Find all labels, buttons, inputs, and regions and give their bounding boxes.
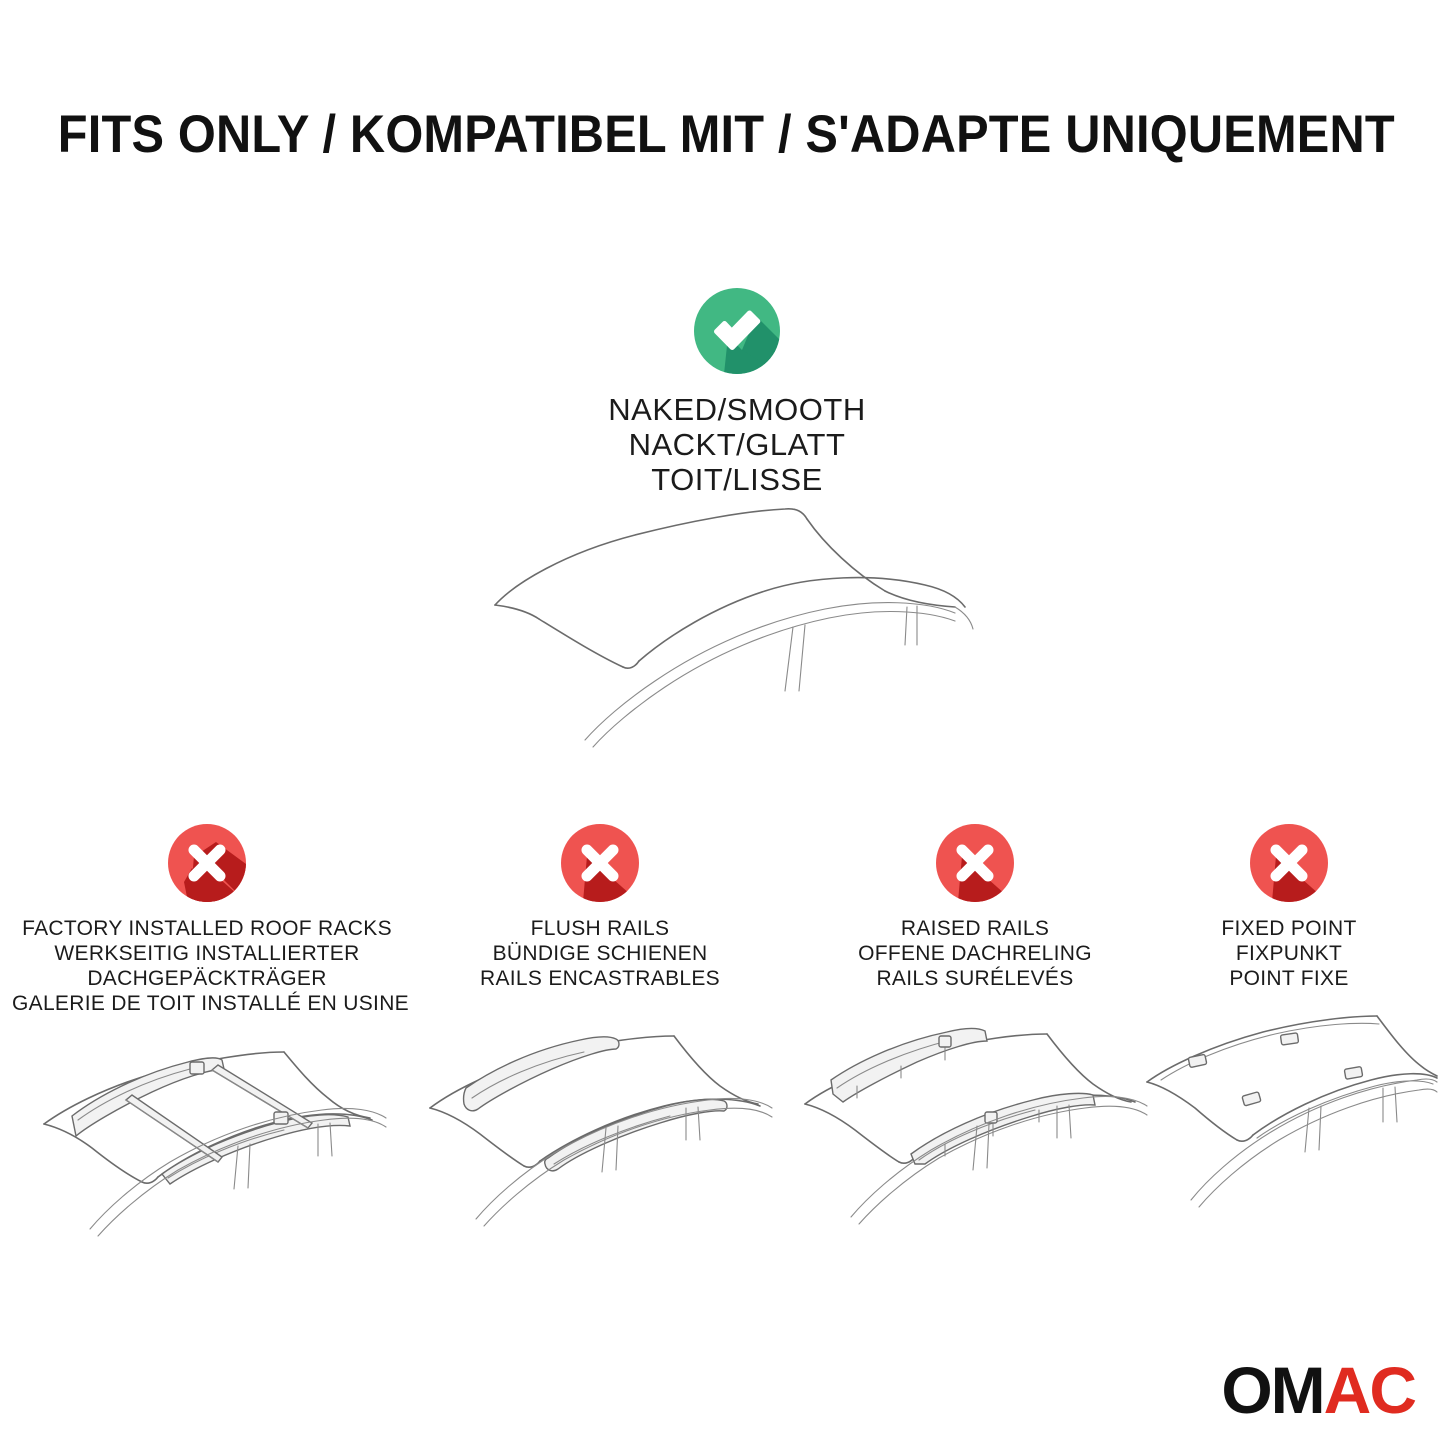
omac-logo-om: OM bbox=[1221, 1353, 1323, 1427]
incompatible-label: FACTORY INSTALLED ROOF RACKS WERKSEITIG … bbox=[12, 916, 402, 1016]
cross-circle-icon bbox=[936, 824, 1014, 902]
incompatible-column-factory-roof-racks: FACTORY INSTALLED ROOF RACKS WERKSEITIG … bbox=[12, 824, 402, 1016]
page-title: FITS ONLY / KOMPATIBEL MIT / S'ADAPTE UN… bbox=[58, 104, 1387, 165]
cross-circle-icon bbox=[1250, 824, 1328, 902]
incompatible-column-fixed-point: FIXED POINT FIXPUNKT POINT FIXE bbox=[1150, 824, 1428, 991]
label-line-3: RAILS SURÉLEVÉS bbox=[800, 966, 1150, 991]
cross-circle-icon bbox=[168, 824, 246, 902]
compatible-label-line-2: NACKT/GLATT bbox=[437, 427, 1037, 462]
incompatible-label: FLUSH RAILS BÜNDIGE SCHIENEN RAILS ENCAS… bbox=[425, 916, 775, 991]
compatible-label-line-3: TOIT/LISSE bbox=[437, 462, 1037, 497]
label-line-2: WERKSEITIG INSTALLIERTER bbox=[12, 941, 402, 966]
bare-smooth-roof-illustration bbox=[455, 495, 1015, 760]
omac-logo: OMAC bbox=[1221, 1357, 1415, 1423]
label-line-4: GALERIE DE TOIT INSTALLÉ EN USINE bbox=[12, 991, 402, 1016]
label-line-2: FIXPUNKT bbox=[1150, 941, 1428, 966]
cross-glyph bbox=[168, 824, 246, 902]
check-circle-icon bbox=[694, 288, 780, 374]
incompatible-column-raised-rails: RAISED RAILS OFFENE DACHRELING RAILS SUR… bbox=[800, 824, 1150, 991]
label-line-1: FLUSH RAILS bbox=[425, 916, 775, 941]
compatible-section: NAKED/SMOOTH NACKT/GLATT TOIT/LISSE bbox=[437, 288, 1037, 497]
label-line-1: RAISED RAILS bbox=[800, 916, 1150, 941]
roof-factory-rack-illustration bbox=[22, 1024, 392, 1249]
compatible-label: NAKED/SMOOTH NACKT/GLATT TOIT/LISSE bbox=[437, 392, 1037, 497]
check-glyph bbox=[694, 288, 780, 374]
label-line-3: DACHGEPÄCKTRÄGER bbox=[12, 966, 402, 991]
label-line-3: RAILS ENCASTRABLES bbox=[425, 966, 775, 991]
roof-raised-rails-illustration bbox=[795, 1024, 1155, 1249]
cross-glyph bbox=[1250, 824, 1328, 902]
label-line-3: POINT FIXE bbox=[1150, 966, 1428, 991]
label-line-1: FIXED POINT bbox=[1150, 916, 1428, 941]
label-line-2: OFFENE DACHRELING bbox=[800, 941, 1150, 966]
cross-circle-icon bbox=[561, 824, 639, 902]
label-line-2: BÜNDIGE SCHIENEN bbox=[425, 941, 775, 966]
incompatible-label: RAISED RAILS OFFENE DACHRELING RAILS SUR… bbox=[800, 916, 1150, 991]
incompatible-column-flush-rails: FLUSH RAILS BÜNDIGE SCHIENEN RAILS ENCAS… bbox=[425, 824, 775, 991]
roof-fixed-points-illustration bbox=[1139, 1010, 1439, 1240]
incompatible-label: FIXED POINT FIXPUNKT POINT FIXE bbox=[1150, 916, 1428, 991]
incompatible-sections: FACTORY INSTALLED ROOF RACKS WERKSEITIG … bbox=[0, 824, 1445, 1254]
roof-flush-rails-illustration bbox=[420, 1024, 780, 1249]
label-line-1: FACTORY INSTALLED ROOF RACKS bbox=[12, 916, 402, 941]
omac-logo-ac: AC bbox=[1324, 1353, 1415, 1427]
cross-glyph bbox=[561, 824, 639, 902]
compatible-label-line-1: NAKED/SMOOTH bbox=[437, 392, 1037, 427]
cross-glyph bbox=[936, 824, 1014, 902]
